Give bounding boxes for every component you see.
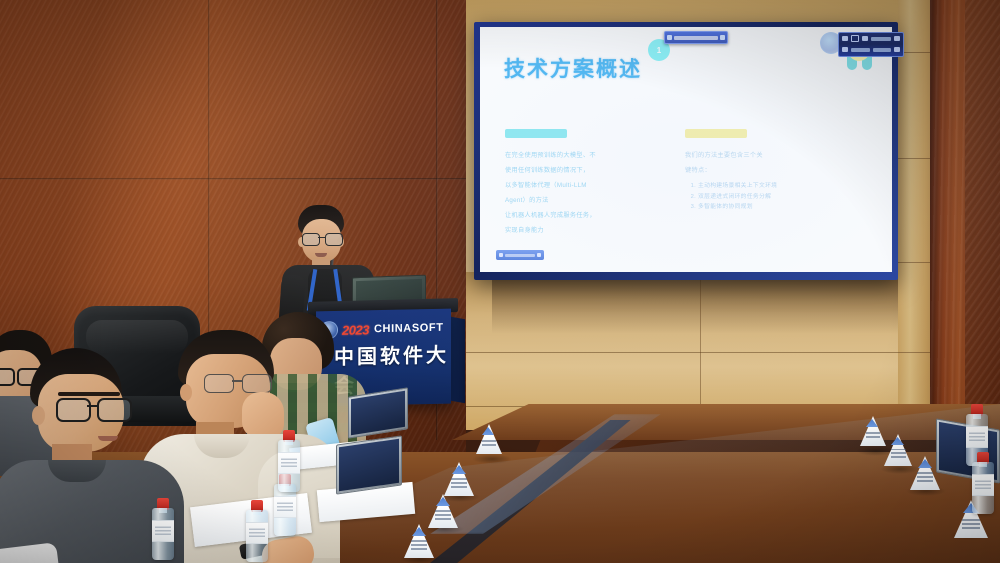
slide-column-right: 我们的方法主要包含三个关 键特点： 主动构建场景相关上下文环境 双层递进式闭环的… (685, 129, 845, 213)
slide-list-item: 多智能体的协同规划 (698, 202, 845, 213)
chip-label (505, 254, 535, 257)
table-name-card (476, 424, 502, 454)
podium-english-label: CHINASOFT (374, 322, 444, 335)
glasses-icon (56, 398, 128, 418)
bottle-label (972, 474, 994, 496)
person-front-ear (32, 406, 45, 425)
table-laptop (336, 440, 402, 490)
wall-dark-wood-right (965, 0, 1000, 420)
audience-person-front-left (12, 348, 172, 563)
slide-text-line: 实现自身能力 (505, 226, 665, 235)
slide-text-line: 在完全使用预训练的大模型、不 (505, 151, 665, 160)
more-options-icon[interactable] (894, 36, 900, 41)
bottle-label (966, 426, 988, 448)
person-front-mouth (98, 436, 118, 441)
window-controls-overlay[interactable] (838, 32, 904, 57)
slide-text-line: 以多智能体代理（Multi-LLM (505, 181, 665, 190)
slide-taskbar-chip[interactable] (496, 250, 544, 260)
table-laptop-screen (351, 391, 405, 436)
panel-seam-h1 (466, 352, 932, 353)
table-laptop-lid (336, 435, 402, 494)
chip-icon (499, 253, 503, 257)
glasses-icon (301, 233, 342, 244)
podium-side-panel (451, 317, 465, 403)
slide-list-item: 主动构建场景相关上下文环境 (698, 181, 845, 192)
close-icon[interactable] (862, 36, 868, 41)
window-titlebar-row[interactable] (839, 33, 903, 44)
slide-text-line: Agent）的方法 (505, 196, 665, 205)
window-toolbar-label-b (873, 48, 892, 52)
window-toolbar-label-a (851, 48, 870, 52)
presentation-slide[interactable]: 技术方案概述 在完全使用预训练的大模型、不 使用任何训练数据的情况下， 以多智能… (480, 27, 892, 272)
slide-text-line: 我们的方法主要包含三个关 (685, 151, 845, 160)
minimize-icon[interactable] (842, 36, 848, 41)
table-name-card (884, 434, 912, 466)
share-stop-icon[interactable] (720, 35, 725, 40)
table-name-card (860, 416, 886, 446)
table-laptop-lid (348, 387, 408, 439)
table-name-card (444, 462, 474, 496)
chip-action-icon[interactable] (537, 253, 541, 257)
window-toolbar-row[interactable] (839, 44, 903, 55)
share-toolbar-label (674, 36, 718, 40)
bottle-label (278, 452, 300, 474)
bottle-label (274, 496, 296, 518)
table-name-card (910, 456, 940, 490)
slide-text-line: 让机器人机器人完成服务任务， (505, 211, 665, 220)
person-front-brow (58, 392, 120, 396)
bottle-label (152, 520, 174, 542)
mic-icon[interactable] (842, 47, 848, 52)
maximize-icon[interactable] (851, 35, 859, 42)
table-laptop (348, 392, 408, 434)
table-laptop-screen (339, 439, 399, 491)
volume-icon[interactable] (894, 47, 900, 52)
slide-column-left: 在完全使用预训练的大模型、不 使用任何训练数据的情况下， 以多智能体代理（Mul… (505, 129, 665, 241)
conference-room-scene: 技术方案概述 在完全使用预训练的大模型、不 使用任何训练数据的情况下， 以多智能… (0, 0, 1000, 563)
slide-numbered-list: 主动构建场景相关上下文环境 双层递进式闭环的任务分解 多智能体的协同规划 (685, 181, 845, 213)
slide-column-tag-yellow (685, 129, 747, 138)
water-bottle (152, 498, 178, 563)
slide-text-line: 键特点： (685, 166, 845, 175)
bottle-label (246, 522, 268, 544)
water-bottle (246, 500, 272, 563)
signal-icon (667, 35, 672, 40)
slide-text-line: 使用任何训练数据的情况下， (505, 166, 665, 175)
window-title-label (871, 37, 891, 41)
water-bottle (278, 430, 298, 486)
slide-list-item: 双层递进式闭环的任务分解 (698, 192, 845, 203)
person-beige-ear (180, 384, 192, 401)
glasses-icon (204, 374, 270, 391)
screen-share-toolbar[interactable] (664, 31, 728, 44)
slide-title: 技术方案概述 (504, 53, 642, 83)
slide-column-tag-cyan (505, 129, 567, 138)
water-bottle (972, 452, 994, 512)
